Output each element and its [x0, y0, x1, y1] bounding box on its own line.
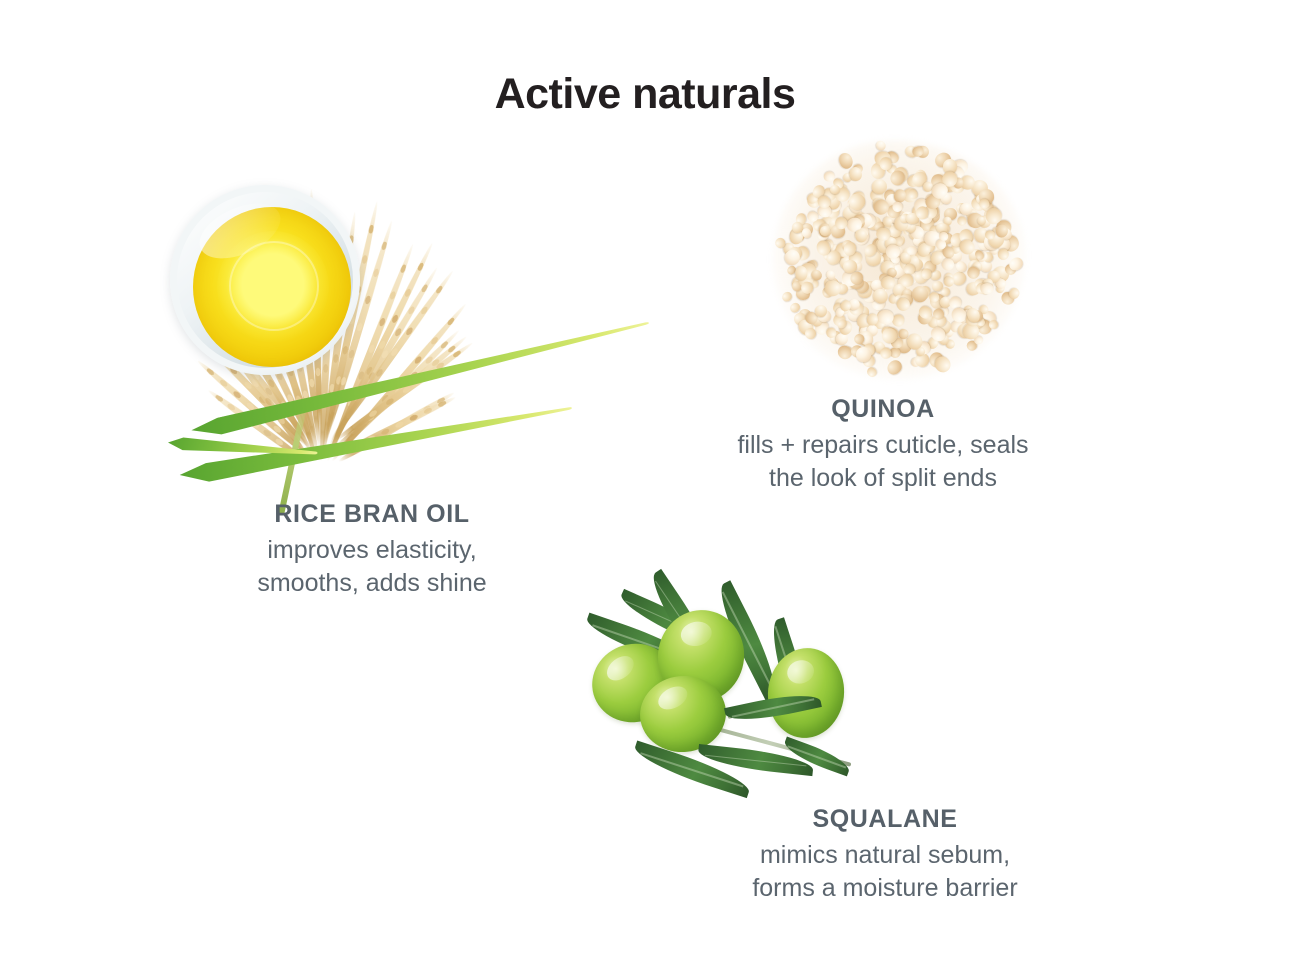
rice-bran-oil-desc-line-1: improves elasticity, — [162, 534, 582, 567]
quinoa-title: QUINOA — [678, 395, 1088, 424]
rice-bran-oil-caption: RICE BRAN OIL improves elasticity, smoot… — [162, 500, 582, 600]
oil-bowl — [170, 185, 360, 375]
rice-bran-oil-description: improves elasticity, smooths, adds shine — [162, 534, 582, 600]
quinoa-image — [772, 140, 1026, 380]
rice-bran-oil-image — [150, 75, 650, 495]
squalane-caption: SQUALANE mimics natural sebum, forms a m… — [682, 805, 1088, 905]
quinoa-description: fills + repairs cuticle, seals the look … — [678, 429, 1088, 495]
squalane-description: mimics natural sebum, forms a moisture b… — [682, 839, 1088, 905]
rice-bran-oil-desc-line-2: smooths, adds shine — [162, 567, 582, 600]
quinoa-grain — [877, 309, 894, 324]
squalane-image — [578, 548, 868, 800]
page-title: Active naturals — [0, 72, 1290, 117]
olive-fruit-4 — [764, 644, 849, 741]
active-naturals-panel: Active naturals RICE BRAN OIL improves e… — [0, 0, 1290, 971]
quinoa-grain — [915, 206, 928, 220]
quinoa-grain — [885, 245, 899, 259]
quinoa-desc-line-1: fills + repairs cuticle, seals — [678, 429, 1088, 462]
rice-bran-oil-title: RICE BRAN OIL — [162, 500, 582, 529]
squalane-title: SQUALANE — [682, 805, 1088, 834]
squalane-desc-line-2: forms a moisture barrier — [682, 872, 1088, 905]
quinoa-grain — [997, 248, 1009, 260]
squalane-desc-line-1: mimics natural sebum, — [682, 839, 1088, 872]
quinoa-grain — [980, 283, 994, 294]
quinoa-desc-line-2: the look of split ends — [678, 462, 1088, 495]
quinoa-caption: QUINOA fills + repairs cuticle, seals th… — [678, 395, 1088, 495]
quinoa-grain — [855, 346, 871, 362]
quinoa-grain — [794, 265, 807, 280]
bowl-rim — [177, 192, 353, 368]
